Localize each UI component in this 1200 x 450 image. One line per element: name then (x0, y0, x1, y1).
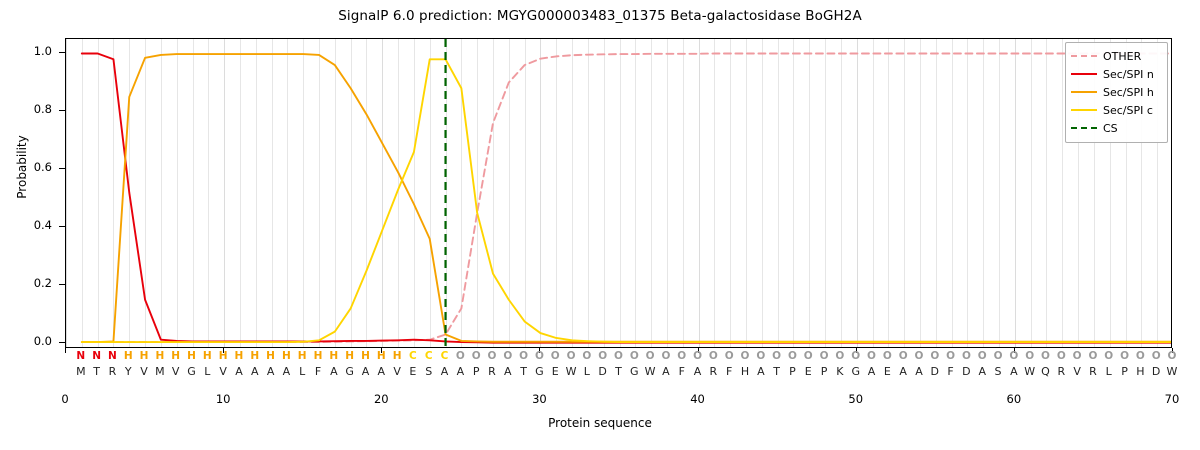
x-tick-label: 40 (678, 392, 718, 406)
legend-swatch (1071, 109, 1097, 111)
y-tick-mark (59, 342, 65, 343)
legend-label: Sec/SPI c (1103, 104, 1153, 117)
y-tick-mark (59, 226, 65, 227)
x-tick-label: 0 (45, 392, 85, 406)
x-tick-label: 60 (994, 392, 1034, 406)
legend-label: Sec/SPI n (1103, 68, 1154, 81)
x-axis-label: Protein sequence (0, 416, 1200, 430)
y-tick-mark (59, 110, 65, 111)
legend-label: OTHER (1103, 50, 1141, 63)
x-tick-label: 20 (361, 392, 401, 406)
residue-letter: W (1162, 365, 1182, 378)
legend-item: CS (1071, 119, 1162, 137)
legend-swatch (1071, 127, 1097, 129)
y-tick-label: 0.0 (12, 334, 52, 348)
legend-item: Sec/SPI n (1071, 65, 1162, 83)
signalp-prediction-figure: SignalP 6.0 prediction: MGYG000003483_01… (0, 0, 1200, 450)
page-title: SignalP 6.0 prediction: MGYG000003483_01… (0, 8, 1200, 24)
y-tick-label: 1.0 (12, 44, 52, 58)
legend-swatch (1071, 55, 1097, 57)
plot-area (65, 38, 1172, 348)
x-tick-label: 70 (1152, 392, 1192, 406)
legend-label: Sec/SPI h (1103, 86, 1154, 99)
legend-item: Sec/SPI h (1071, 83, 1162, 101)
y-axis-label: Probability (15, 67, 29, 267)
sequence-annotation: NMNTNRHYHVHMHVHGHLHVHAHAHAHAHLHFHAHGHAHA… (65, 348, 1172, 390)
y-tick-label: 0.2 (12, 276, 52, 290)
legend-swatch (1071, 73, 1097, 75)
prediction-curves (66, 39, 1172, 348)
x-tick-label: 10 (203, 392, 243, 406)
residue-state: O (1162, 350, 1182, 362)
x-tick-label: 50 (836, 392, 876, 406)
legend-item: Sec/SPI c (1071, 101, 1162, 119)
curve-sec-spi-n (82, 53, 1172, 342)
curve-sec-spi-h (82, 54, 1172, 342)
y-tick-mark (59, 284, 65, 285)
curve-sec-spi-c (82, 59, 1172, 342)
legend-label: CS (1103, 122, 1118, 135)
legend: OTHERSec/SPI nSec/SPI hSec/SPI cCS (1065, 42, 1168, 143)
x-tick-label: 30 (519, 392, 559, 406)
legend-item: OTHER (1071, 47, 1162, 65)
y-tick-mark (59, 168, 65, 169)
y-tick-mark (59, 52, 65, 53)
legend-swatch (1071, 91, 1097, 93)
curve-other (82, 53, 1172, 342)
